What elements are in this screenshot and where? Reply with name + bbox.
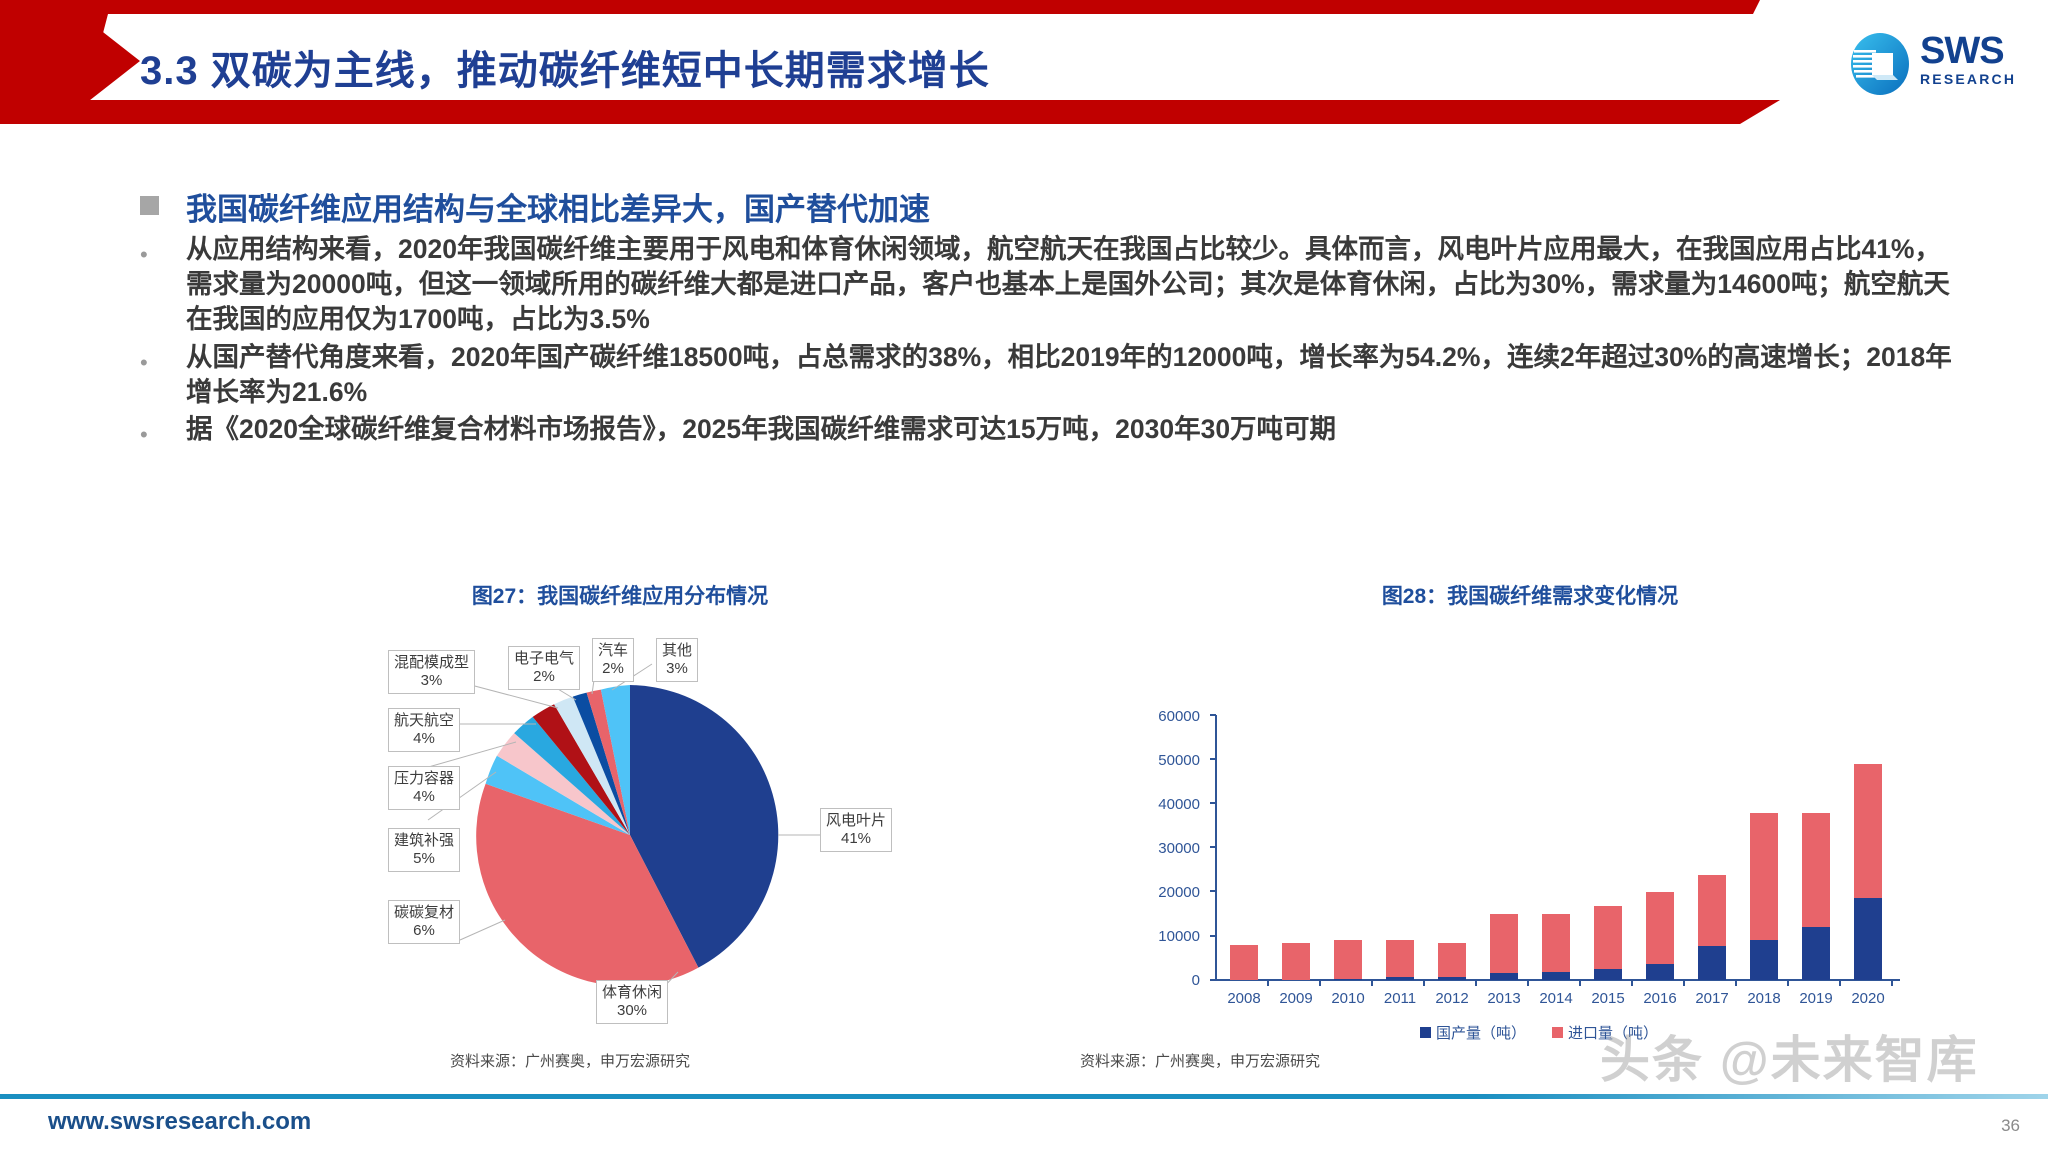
legend-label-domestic: 国产量（吨） xyxy=(1436,1022,1526,1043)
bullet-dot-icon-2: • xyxy=(140,352,148,374)
pie-label-name: 压力容器 xyxy=(394,770,454,787)
x-axis-label-2010: 2010 xyxy=(1326,990,1370,1007)
square-bullet-icon xyxy=(140,196,159,215)
pie-label-value: 6% xyxy=(413,922,435,939)
pie-chart-panel: 图27：我国碳纤维应用分布情况 xyxy=(300,580,940,1060)
sws-logo-text: SWS RESEARCH xyxy=(1920,34,2016,87)
pie-label-体育休闲: 体育休闲 30% xyxy=(596,980,668,1024)
pie-label-name: 碳碳复材 xyxy=(394,904,454,921)
legend-item-domestic: 国产量（吨） xyxy=(1420,1022,1526,1043)
x-axis-label-2020: 2020 xyxy=(1846,990,1890,1007)
footer-url[interactable]: www.swsresearch.com xyxy=(48,1108,311,1136)
pie-label-value: 2% xyxy=(533,668,555,685)
sws-logo: SWS RESEARCH xyxy=(1848,30,2038,100)
bullet-dot-icon-1: • xyxy=(140,244,148,266)
header-bottom-red-strip xyxy=(0,100,1780,124)
pie-label-name: 混配模成型 xyxy=(394,654,469,671)
bullet-dot-icon-3: • xyxy=(140,424,148,446)
pie-chart-title: 图27：我国碳纤维应用分布情况 xyxy=(300,580,940,610)
pie-label-value: 4% xyxy=(413,730,435,747)
x-axis-label-2008: 2008 xyxy=(1222,990,1266,1007)
x-axis-label-2013: 2013 xyxy=(1482,990,1526,1007)
sws-logo-subtext: RESEARCH xyxy=(1920,71,2016,87)
page-title: 3.3 双碳为主线，推动碳纤维短中长期需求增长 xyxy=(140,38,990,96)
pie-label-value: 3% xyxy=(421,672,443,689)
x-axis-label-2011: 2011 xyxy=(1378,990,1422,1007)
pie-label-name: 其他 xyxy=(662,642,692,659)
pie-label-value: 30% xyxy=(617,1002,647,1019)
bullet-paragraph-1: 从应用结构来看，2020年我国碳纤维主要用于风电和体育休闲领域，航空航天在我国占… xyxy=(186,232,1956,337)
pie-label-压力容器: 压力容器 4% xyxy=(388,766,460,810)
pie-label-value: 3% xyxy=(666,660,688,677)
pie-label-name: 风电叶片 xyxy=(826,812,886,829)
bar-chart-graphic xyxy=(1120,580,1940,1000)
bullet-paragraph-3: 据《2020全球碳纤维复合材料市场报告》，2025年我国碳纤维需求可达15万吨，… xyxy=(186,412,1956,447)
pie-chart-source: 资料来源：广州赛奥，申万宏源研究 xyxy=(450,1050,690,1071)
x-axis-label-2014: 2014 xyxy=(1534,990,1578,1007)
page-number: 36 xyxy=(2001,1116,2020,1136)
section-heading: 我国碳纤维应用结构与全球相比差异大，国产替代加速 xyxy=(186,184,930,229)
page-header: 3.3 双碳为主线，推动碳纤维短中长期需求增长 xyxy=(0,0,2048,136)
footer-divider xyxy=(0,1094,2048,1099)
pie-label-value: 2% xyxy=(602,660,624,677)
bar-chart-source: 资料来源：广州赛奥，申万宏源研究 xyxy=(1080,1050,1320,1071)
pie-label-混配模成型: 混配模成型 3% xyxy=(388,650,475,694)
bar-chart-panel: 图28：我国碳纤维需求变化情况 60000 50000 40000 30000 … xyxy=(1120,580,1940,1060)
x-axis-label-2012: 2012 xyxy=(1430,990,1474,1007)
legend-swatch-domestic-icon xyxy=(1420,1027,1431,1038)
pie-label-汽车: 汽车 2% xyxy=(592,638,634,682)
pie-label-其他: 其他 3% xyxy=(656,638,698,682)
pie-label-name: 建筑补强 xyxy=(394,832,454,849)
sws-logo-mark-icon xyxy=(1848,32,1912,96)
sws-logo-wordmark: SWS xyxy=(1920,34,2016,68)
watermark: 头条 @未来智库 xyxy=(1600,1020,1979,1092)
pie-label-name: 电子电气 xyxy=(514,650,574,667)
x-axis-label-2017: 2017 xyxy=(1690,990,1734,1007)
bullet-paragraph-2: 从国产替代角度来看，2020年国产碳纤维18500吨，占总需求的38%，相比20… xyxy=(186,340,1956,410)
pie-label-value: 4% xyxy=(413,788,435,805)
pie-label-电子电气: 电子电气 2% xyxy=(508,646,580,690)
pie-label-碳碳复材: 碳碳复材 6% xyxy=(388,900,460,944)
pie-label-建筑补强: 建筑补强 5% xyxy=(388,828,460,872)
x-axis-label-2016: 2016 xyxy=(1638,990,1682,1007)
pie-label-航天航空: 航天航空 4% xyxy=(388,708,460,752)
legend-swatch-import-icon xyxy=(1552,1027,1563,1038)
pie-label-value: 41% xyxy=(841,830,871,847)
x-axis-label-2009: 2009 xyxy=(1274,990,1318,1007)
pie-label-风电叶片: 风电叶片 41% xyxy=(820,808,892,852)
pie-label-value: 5% xyxy=(413,850,435,867)
x-axis-label-2018: 2018 xyxy=(1742,990,1786,1007)
pie-label-name: 体育休闲 xyxy=(602,984,662,1001)
pie-label-name: 汽车 xyxy=(598,642,628,659)
x-axis-label-2015: 2015 xyxy=(1586,990,1630,1007)
pie-label-name: 航天航空 xyxy=(394,712,454,729)
x-axis-label-2019: 2019 xyxy=(1794,990,1838,1007)
